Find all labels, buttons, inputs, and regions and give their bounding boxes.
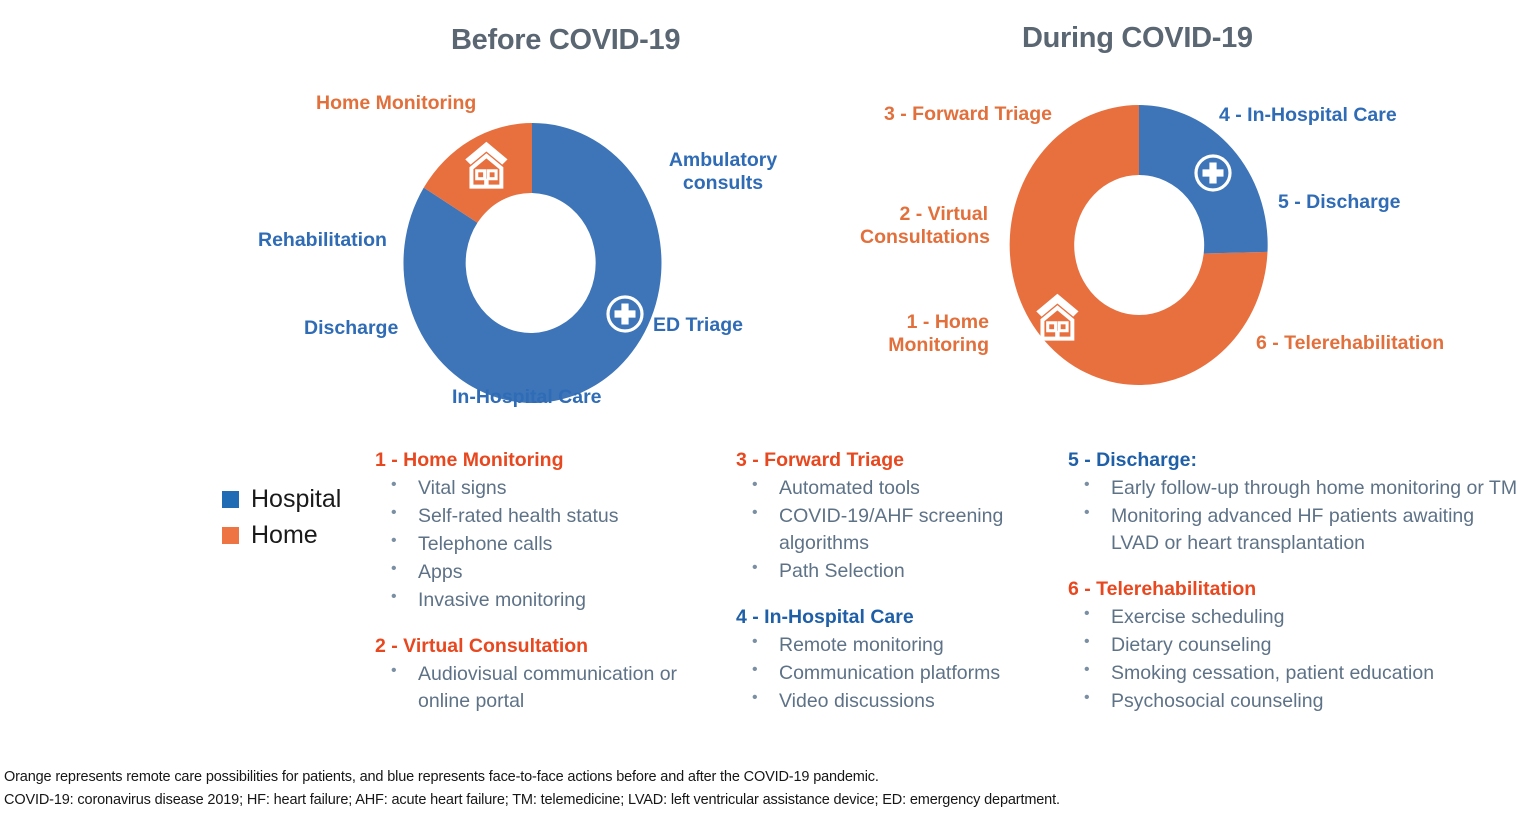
detail-column-3: 5 - Discharge: Early follow-up through h… [1068,448,1520,716]
label-ambulatory-consults: Ambulatory consults [648,149,798,195]
legend-swatch-home [222,527,239,544]
legend-swatch-hospital [222,491,239,508]
section-bullet-list: Exercise scheduling Dietary counseling S… [1068,604,1520,715]
list-item: Telephone calls [375,531,705,558]
label-ed-triage: ED Triage [653,314,743,337]
footnote-line: COVID-19: coronavirus disease 2019; HF: … [4,789,1524,812]
list-item: Remote monitoring [736,632,1036,659]
list-item: Apps [375,559,705,586]
section-heading: 5 - Discharge: [1068,448,1520,473]
list-item: Psychosocial counseling [1068,688,1520,715]
label-virtual-consultations: 2 - Virtual Consultations [860,203,988,249]
label-forward-triage: 3 - Forward Triage [884,103,1052,126]
section-telerehabilitation: 6 - Telerehabilitation Exercise scheduli… [1068,577,1520,715]
section-virtual-consultation: 2 - Virtual Consultation Audiovisual com… [375,634,705,715]
list-item: Self-rated health status [375,503,705,530]
legend-item-home: Home [222,523,341,548]
legend-label-hospital: Hospital [251,487,341,512]
chart-title-during: During COVID-19 [1022,22,1253,55]
label-in-hospital-care-during: 4 - In-Hospital Care [1219,104,1397,127]
label-home-monitoring: Home Monitoring [316,92,476,115]
chart-title-before: Before COVID-19 [451,24,680,57]
section-bullet-list: Early follow-up through home monitoring … [1068,475,1520,557]
label-home-monitoring-during: 1 - Home Monitoring [877,311,989,357]
list-item: COVID-19/AHF screening algorithms [736,503,1036,557]
list-item: Automated tools [736,475,1036,502]
donut-chart-during [1005,100,1273,390]
donut-chart-before [398,118,666,408]
list-item: Smoking cessation, patient education [1068,660,1520,687]
detail-column-1: 1 - Home Monitoring Vital signs Self-rat… [375,448,705,716]
legend: Hospital Home [222,487,341,559]
list-item: Path Selection [736,558,1036,585]
label-discharge-during: 5 - Discharge [1278,191,1400,214]
label-telerehabilitation: 6 - Telerehabilitation [1256,332,1444,355]
section-discharge: 5 - Discharge: Early follow-up through h… [1068,448,1520,557]
list-item: Monitoring advanced HF patients awaiting… [1068,503,1520,557]
section-bullet-list: Remote monitoring Communication platform… [736,632,1036,715]
legend-item-hospital: Hospital [222,487,341,512]
section-heading: 6 - Telerehabilitation [1068,577,1520,602]
list-item: Invasive monitoring [375,587,705,614]
legend-label-home: Home [251,523,318,548]
label-discharge: Discharge [304,317,398,340]
section-heading: 3 - Forward Triage [736,448,1036,473]
list-item: Exercise scheduling [1068,604,1520,631]
section-heading: 1 - Home Monitoring [375,448,705,473]
list-item: Dietary counseling [1068,632,1520,659]
section-in-hospital-care: 4 - In-Hospital Care Remote monitoring C… [736,605,1036,715]
footnote-line: Orange represents remote care possibilit… [4,766,1524,789]
list-item: Audiovisual communication or online port… [375,661,705,715]
label-in-hospital-care: In-Hospital Care [452,386,602,409]
detail-column-2: 3 - Forward Triage Automated tools COVID… [736,448,1036,716]
section-forward-triage: 3 - Forward Triage Automated tools COVID… [736,448,1036,585]
label-rehabilitation: Rehabilitation [258,229,387,252]
section-home-monitoring: 1 - Home Monitoring Vital signs Self-rat… [375,448,705,614]
section-heading: 2 - Virtual Consultation [375,634,705,659]
section-bullet-list: Audiovisual communication or online port… [375,661,705,715]
list-item: Vital signs [375,475,705,502]
list-item: Video discussions [736,688,1036,715]
footnotes: Orange represents remote care possibilit… [4,766,1524,813]
list-item: Communication platforms [736,660,1036,687]
section-bullet-list: Automated tools COVID-19/AHF screening a… [736,475,1036,585]
section-heading: 4 - In-Hospital Care [736,605,1036,630]
donut-slice-hospital [1139,105,1268,254]
section-bullet-list: Vital signs Self-rated health status Tel… [375,475,705,614]
list-item: Early follow-up through home monitoring … [1068,475,1520,502]
